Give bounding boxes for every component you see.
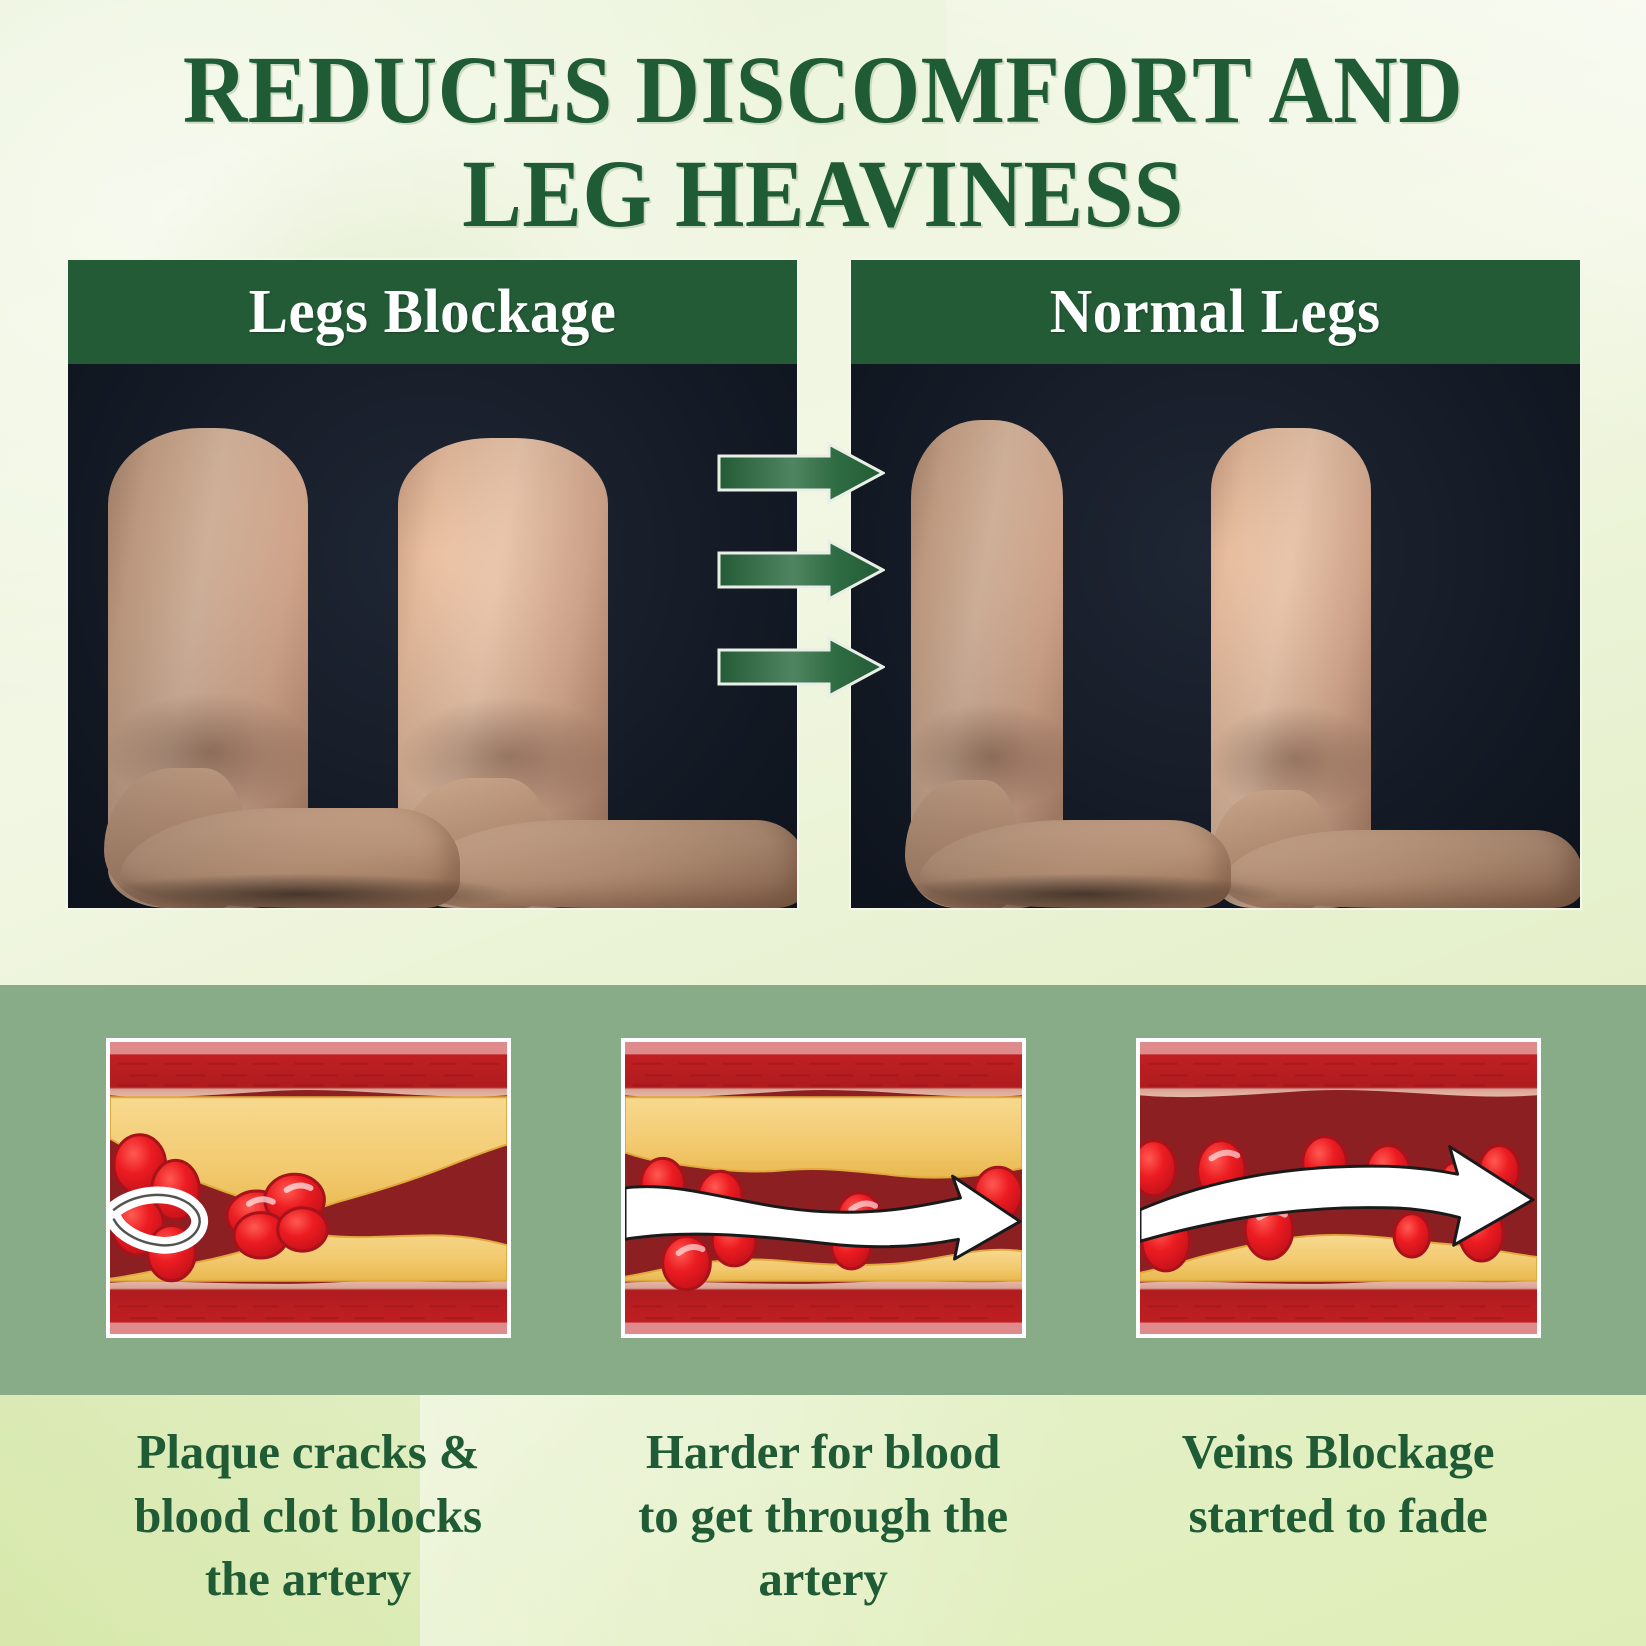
artery-caption-open: Veins Blockage started to fade [1136, 1398, 1541, 1646]
artery-captions-row: Plaque cracks & blood clot blocks the ar… [0, 1398, 1646, 1646]
infographic-poster: REDUCES DISCOMFORT AND LEG HEAVINESS Leg… [0, 0, 1646, 1646]
normal-back-foot [1223, 830, 1580, 908]
swollen-legs-floor-shadow [88, 874, 508, 908]
artery-narrowed-icon [621, 1038, 1026, 1338]
arrow-right-icon-2 [717, 537, 885, 603]
arrow-right-icon-1 [717, 440, 885, 506]
panel-legs-blockage: Legs Blockage [66, 258, 799, 910]
artery-blocked-icon [106, 1038, 511, 1338]
panel-header-label-right: Normal Legs [1050, 260, 1381, 364]
artery-caption-narrowed: Harder for blood to get through the arte… [621, 1398, 1026, 1646]
panel-header-normal-legs: Normal Legs [851, 260, 1580, 364]
normal-legs-photo [851, 364, 1580, 908]
arrow-right-icon-3 [717, 634, 885, 700]
artery-caption-blocked: Plaque cracks & blood clot blocks the ar… [106, 1398, 511, 1646]
transition-arrows [717, 440, 887, 700]
swollen-legs-photo [68, 364, 797, 908]
normal-legs-floor-shadow [887, 874, 1277, 908]
panel-header-legs-blockage: Legs Blockage [68, 260, 797, 364]
artery-diagram-row [0, 1038, 1646, 1338]
panel-normal-legs: Normal Legs [849, 258, 1582, 910]
panel-header-label-left: Legs Blockage [249, 260, 617, 364]
page-title: REDUCES DISCOMFORT AND LEG HEAVINESS [58, 38, 1589, 245]
artery-open-icon [1136, 1038, 1541, 1338]
